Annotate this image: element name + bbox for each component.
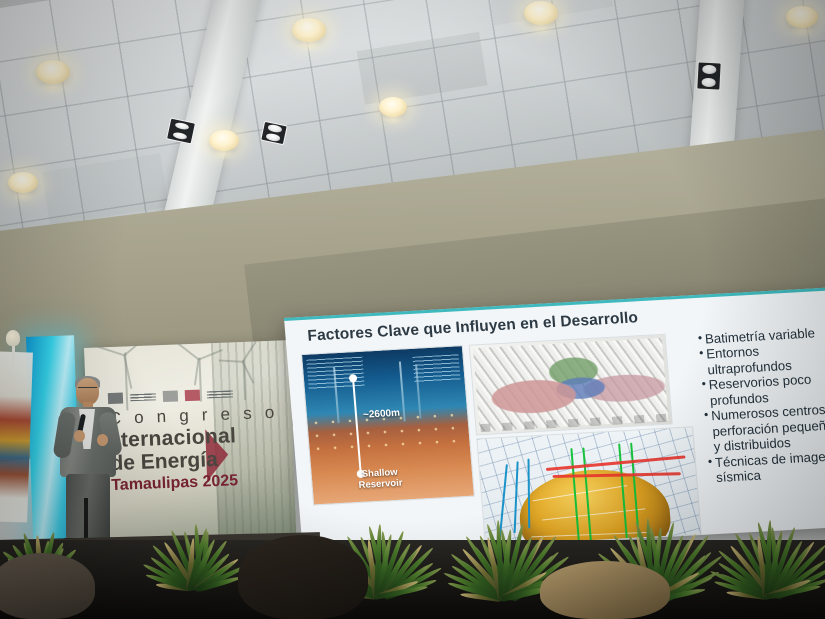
depth-label: ~2600m bbox=[363, 408, 401, 421]
regional-geology-map-figure bbox=[469, 334, 673, 436]
bullet-text: Entornos bbox=[706, 344, 760, 362]
audience-head bbox=[540, 561, 670, 619]
gobierno-logo-icon bbox=[185, 390, 200, 402]
downlight bbox=[209, 130, 239, 151]
audience-head bbox=[0, 553, 95, 619]
downlight bbox=[524, 1, 558, 25]
logo-wordmark bbox=[130, 393, 156, 401]
logo-wordmark bbox=[207, 390, 233, 398]
turbine-blade bbox=[177, 343, 199, 360]
figure-annotation-block-right bbox=[413, 354, 461, 382]
audience-head bbox=[238, 535, 368, 619]
palm-plant bbox=[690, 467, 825, 597]
speaker-right-hand bbox=[97, 434, 108, 446]
speaker-left-hand bbox=[74, 430, 85, 442]
downlight bbox=[36, 60, 70, 84]
downlight bbox=[8, 172, 38, 193]
banner-line-de-energia: de Energía bbox=[110, 448, 218, 476]
twin-spot-fixture bbox=[696, 61, 721, 90]
downlight bbox=[292, 18, 326, 42]
downlight bbox=[379, 97, 407, 117]
conference-photo-scene: C o n g r e s o Internacional de Energía… bbox=[0, 0, 825, 619]
flag-finial bbox=[6, 330, 20, 346]
speaker-glasses bbox=[78, 387, 97, 392]
downlight bbox=[786, 6, 818, 28]
secondary-logo-icon bbox=[163, 390, 178, 402]
